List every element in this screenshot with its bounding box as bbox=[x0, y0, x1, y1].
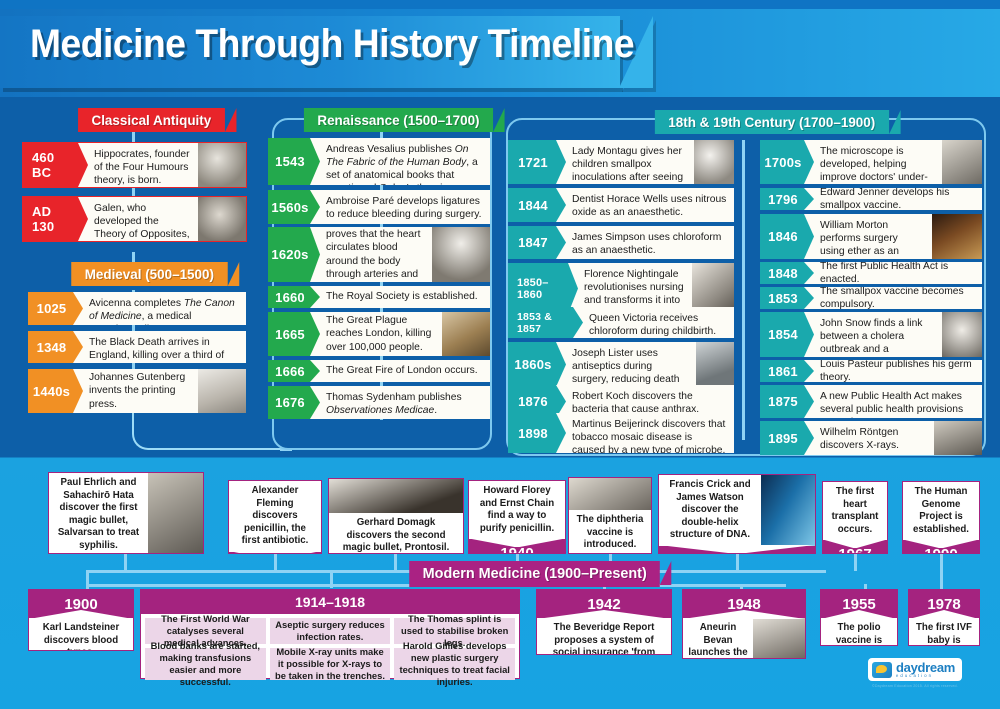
wwi-grid: The First World War catalyses several me… bbox=[141, 614, 519, 684]
card-year: 1940 bbox=[469, 539, 565, 554]
event-row: 1666 The Great Fire of London occurs. bbox=[268, 360, 490, 382]
card-image-syringe-and-vial bbox=[569, 478, 651, 510]
card-body: The Human Genome Project is established. bbox=[903, 482, 979, 540]
wwi-cell: Blood banks are started, making transfus… bbox=[145, 648, 266, 680]
century20-card: The first heart transplant occurs. 1967 bbox=[822, 481, 888, 554]
event-year: 1676 bbox=[268, 386, 310, 419]
card-image-prontosil-vial bbox=[329, 479, 463, 513]
modern-card: 1900 Karl Landsteiner discovers blood ty… bbox=[28, 589, 134, 651]
century20-card: Alexander Fleming discovers penicillin, … bbox=[228, 480, 322, 554]
poster-canvas: Medicine Through History Timeline Classi… bbox=[0, 0, 1000, 709]
event-row: 1796 Edward Jenner develops his smallpox… bbox=[760, 188, 982, 210]
event-row: 1560s Ambroise Paré develops ligatures t… bbox=[268, 190, 490, 224]
event-year: 1861 bbox=[760, 360, 804, 382]
card-year: 1900 bbox=[29, 590, 133, 618]
event-text: The microscope is developed, helping imp… bbox=[804, 140, 942, 184]
card-body: Howard Florey and Ernst Chain find a way… bbox=[469, 481, 565, 539]
event-year: 1666 bbox=[268, 360, 310, 382]
event-row: 1895 Wilhelm Röntgen discovers X-rays. bbox=[760, 421, 982, 455]
card-text: Gerhard Domagk discovers the second magi… bbox=[329, 513, 463, 554]
event-row: 1846 William Morton performs surgery usi… bbox=[760, 214, 982, 259]
modern-card: 1978 The first IVF baby is born. bbox=[908, 589, 980, 646]
card-body: Aneurin Bevan launches the National Heal… bbox=[683, 618, 805, 659]
event-row: 1854 John Snow finds a link between a ch… bbox=[760, 312, 982, 357]
connector-band-drop-1928 bbox=[274, 554, 277, 571]
event-text: Queen Victoria receives chloroform durin… bbox=[573, 307, 734, 338]
wwi-column: The First World War catalyses several me… bbox=[145, 618, 266, 680]
century20-card: Paul Ehrlich and Sahachirō Hata discover… bbox=[48, 472, 204, 554]
event-row: 1620s William Harvey proves that the hea… bbox=[268, 227, 490, 282]
brand-logo[interactable]: daydream education bbox=[868, 658, 962, 681]
century20-card: Francis Crick and James Watson discover … bbox=[658, 474, 816, 554]
banner-classical-antiquity: Classical Antiquity bbox=[78, 108, 225, 132]
card-text: Alexander Fleming discovers penicillin, … bbox=[229, 481, 321, 552]
event-text: William Morton performs surgery using et… bbox=[804, 214, 932, 259]
card-body: The diphtheria vaccine is introduced. bbox=[569, 478, 651, 554]
event-row: 1348 The Black Death arrives in England,… bbox=[28, 331, 246, 363]
event-text: Andreas Vesalius publishes On The Fabric… bbox=[310, 138, 490, 185]
card-text: The diphtheria vaccine is introduced. bbox=[569, 510, 651, 554]
event-image-carbolic-spray-apparatus bbox=[696, 342, 734, 387]
card-body: Gerhard Domagk discovers the second magi… bbox=[329, 479, 463, 554]
wwi-year: 1914–1918 bbox=[141, 590, 519, 614]
event-year: 1846 bbox=[760, 214, 804, 259]
card-text: The first heart transplant occurs. bbox=[823, 482, 887, 540]
connector-band-drop-1967 bbox=[854, 554, 857, 571]
modern-card: 1955 The polio vaccine is introduced. bbox=[820, 589, 898, 646]
card-year: 1948 bbox=[683, 590, 805, 618]
event-text: The Black Death arrives in England, kill… bbox=[73, 331, 246, 363]
card-image-dna-double-helix bbox=[761, 475, 815, 546]
event-year: 1025 bbox=[28, 292, 73, 325]
event-row: 1848 The first Public Health Act is enac… bbox=[760, 262, 982, 284]
connector-band-drop-1932 bbox=[394, 554, 397, 571]
event-row: 1025 Avicenna completes The Canon of Med… bbox=[28, 292, 246, 325]
wwi-cell: Mobile X-ray units make it possible for … bbox=[270, 648, 391, 680]
card-image-nhs-launch-photo bbox=[753, 618, 805, 659]
modern-card: 1942 The Beveridge Report proposes a sys… bbox=[536, 589, 672, 655]
event-year: 1700s bbox=[760, 140, 804, 184]
card-text: Howard Florey and Ernst Chain find a way… bbox=[469, 481, 565, 539]
event-text: Louis Pasteur publishes his germ theory. bbox=[804, 360, 982, 382]
event-year: 1665 bbox=[268, 312, 310, 356]
event-year: 1721 bbox=[508, 140, 556, 184]
century20-card: The diphtheria vaccine is introduced. 19… bbox=[568, 477, 652, 554]
event-row: 1875 A new Public Health Act makes sever… bbox=[760, 385, 982, 418]
event-text: Lady Montagu gives her children smallpox… bbox=[556, 140, 694, 184]
card-text: The Human Genome Project is established. bbox=[903, 482, 979, 540]
event-year: 1854 bbox=[760, 312, 804, 357]
event-year: 1898 bbox=[508, 413, 556, 453]
event-row: 460 BC Hippocrates, founder of the Four … bbox=[22, 142, 247, 188]
event-year: 1796 bbox=[760, 188, 804, 210]
connector-lower-drop-wwi bbox=[330, 570, 333, 588]
notch-shape bbox=[683, 610, 805, 619]
card-body: The polio vaccine is introduced. bbox=[821, 618, 897, 646]
event-row: 1721 Lady Montagu gives her children sma… bbox=[508, 140, 734, 184]
event-row: 1660 The Royal Society is established. bbox=[268, 286, 490, 308]
event-row: 1665 The Great Plague reaches London, ki… bbox=[268, 312, 490, 356]
event-year: 1620s bbox=[268, 227, 310, 282]
card-text: Aneurin Bevan launches the National Heal… bbox=[683, 618, 753, 659]
event-image-harvey-arm-veins-diagram bbox=[432, 227, 490, 282]
event-text: Ambroise Paré develops ligatures to redu… bbox=[310, 190, 490, 224]
event-year: 1853 bbox=[760, 287, 804, 309]
card-body: The first heart transplant occurs. bbox=[823, 482, 887, 540]
event-row: 1853 & 1857 Queen Victoria receives chlo… bbox=[508, 307, 734, 338]
event-text: Dentist Horace Wells uses nitrous oxide … bbox=[556, 188, 734, 222]
banner-modern-medicine: Modern Medicine (1900–Present) bbox=[409, 561, 660, 587]
event-text: The smallpox vaccine becomes compulsory. bbox=[804, 287, 982, 309]
event-text: The Great Plague reaches London, killing… bbox=[310, 312, 442, 356]
event-text: William Harvey proves that the heart cir… bbox=[310, 227, 432, 282]
card-year: 1978 bbox=[909, 590, 979, 618]
event-text: Galen, who developed the Theory of Oppos… bbox=[78, 197, 198, 241]
notch-shape bbox=[537, 610, 671, 619]
event-text: The Royal Society is established. bbox=[310, 286, 490, 308]
event-row: 1844 Dentist Horace Wells uses nitrous o… bbox=[508, 188, 734, 222]
event-year: 1895 bbox=[760, 421, 804, 455]
card-body: Alexander Fleming discovers penicillin, … bbox=[229, 481, 321, 552]
event-year: 1847 bbox=[508, 226, 556, 259]
card-text: Karl Landsteiner discovers blood types. bbox=[29, 618, 133, 651]
card-text: The first IVF baby is born. bbox=[909, 618, 979, 646]
event-year: 1848 bbox=[760, 262, 804, 284]
event-year: 1440s bbox=[28, 369, 73, 413]
card-text: The Beveridge Report proposes a system o… bbox=[537, 618, 671, 655]
banner-18th-19th-century: 18th & 19th Century (1700–1900) bbox=[655, 110, 889, 134]
event-row: 1700s The microscope is developed, helpi… bbox=[760, 140, 982, 184]
card-image-ehrlich-hata-photo bbox=[148, 473, 203, 554]
event-image-lady-montagu-portrait bbox=[694, 140, 734, 184]
card-body: Paul Ehrlich and Sahachirō Hata discover… bbox=[49, 473, 203, 554]
card-year: 1953 bbox=[659, 546, 815, 554]
page-title: Medicine Through History Timeline bbox=[30, 22, 634, 67]
daydream-mark-icon bbox=[872, 662, 892, 678]
banner-medieval: Medieval (500–1500) bbox=[71, 262, 227, 286]
event-row: 1861 Louis Pasteur publishes his germ th… bbox=[760, 360, 982, 382]
connector-band-drop-1953 bbox=[736, 554, 739, 571]
event-image-ether-surgery-painting bbox=[932, 214, 982, 259]
event-image-rontgen-xray-photo bbox=[934, 421, 982, 455]
card-year: 1942 bbox=[537, 590, 671, 618]
wwi-column: Aseptic surgery reduces infection rates.… bbox=[270, 618, 391, 680]
connector-band-drop-1909 bbox=[124, 554, 127, 571]
event-year: 460 BC bbox=[23, 143, 78, 187]
event-year: 1860s bbox=[508, 342, 556, 387]
event-year: 1844 bbox=[508, 188, 556, 222]
event-image-antique-microscope bbox=[942, 140, 982, 184]
card-body: Francis Crick and James Watson discover … bbox=[659, 475, 815, 546]
event-text: The Great Fire of London occurs. bbox=[310, 360, 490, 382]
notch-shape bbox=[821, 610, 897, 619]
event-year: 1560s bbox=[268, 190, 310, 224]
connector-left-group-outline bbox=[132, 410, 282, 450]
century20-card: Howard Florey and Ernst Chain find a way… bbox=[468, 480, 566, 554]
event-text: James Simpson uses chloroform as an anae… bbox=[556, 226, 734, 259]
event-text: Avicenna completes The Canon of Medicine… bbox=[73, 292, 246, 325]
card-text: The polio vaccine is introduced. bbox=[821, 618, 897, 646]
copyright-text: ©Daydream Education 2015. All rights res… bbox=[872, 684, 958, 688]
event-row: 1440s Johannes Gutenberg invents the pri… bbox=[28, 369, 246, 413]
event-image-john-snow-portrait bbox=[942, 312, 982, 357]
card-body: Karl Landsteiner discovers blood types. bbox=[29, 618, 133, 651]
event-text: Edward Jenner develops his smallpox vacc… bbox=[804, 188, 982, 210]
event-row: 1847 James Simpson uses chloroform as an… bbox=[508, 226, 734, 259]
event-row: 1898 Martinus Beijerinck discovers that … bbox=[508, 413, 734, 453]
event-text: Joseph Lister uses antiseptics during su… bbox=[556, 342, 696, 387]
event-row: AD 130 Galen, who developed the Theory o… bbox=[22, 196, 247, 242]
event-year: 1853 & 1857 bbox=[508, 307, 573, 338]
notch-shape bbox=[29, 610, 133, 619]
wwi-column: The Thomas splint is used to stabilise b… bbox=[394, 618, 515, 680]
card-year: 1967 bbox=[823, 540, 887, 554]
event-text: Thomas Sydenham publishes Observationes … bbox=[310, 386, 490, 419]
event-text: John Snow finds a link between a cholera… bbox=[804, 312, 942, 357]
event-text: Wilhelm Röntgen discovers X-rays. bbox=[804, 421, 934, 455]
event-row: 1853 The smallpox vaccine becomes compul… bbox=[760, 287, 982, 309]
event-image-galen-portrait bbox=[198, 197, 246, 241]
century20-card: The Human Genome Project is established.… bbox=[902, 481, 980, 554]
wwi-cell: Harold Gillies develops new plastic surg… bbox=[394, 648, 515, 680]
notch-shape bbox=[909, 610, 979, 619]
event-text: Hippocrates, founder of the Four Humours… bbox=[78, 143, 198, 187]
event-row: 1543 Andreas Vesalius publishes On The F… bbox=[268, 138, 490, 185]
card-year: 1955 bbox=[821, 590, 897, 618]
event-year: AD 130 bbox=[23, 197, 78, 241]
event-row: 1860s Joseph Lister uses antiseptics dur… bbox=[508, 342, 734, 387]
event-text: A new Public Health Act makes several pu… bbox=[804, 385, 982, 418]
card-text: Francis Crick and James Watson discover … bbox=[659, 475, 761, 546]
banner-renaissance: Renaissance (1500–1700) bbox=[304, 108, 493, 132]
event-image-hippocrates-bust-portrait bbox=[198, 143, 246, 187]
event-text: Martinus Beijerinck discovers that tobac… bbox=[556, 413, 734, 453]
event-year: 1660 bbox=[268, 286, 310, 308]
card-year: 1990 bbox=[903, 540, 979, 554]
event-image-printing-press-engraving bbox=[198, 369, 246, 413]
event-row: 1676 Thomas Sydenham publishes Observati… bbox=[268, 386, 490, 419]
event-year: 1348 bbox=[28, 331, 73, 363]
event-text: Johannes Gutenberg invents the printing … bbox=[73, 369, 198, 413]
card-body: The first IVF baby is born. bbox=[909, 618, 979, 646]
modern-card: 1948 Aneurin Bevan launches the National… bbox=[682, 589, 806, 659]
event-image-great-plague-painting bbox=[442, 312, 490, 356]
card-body: The Beveridge Report proposes a system o… bbox=[537, 618, 671, 655]
card-text: Paul Ehrlich and Sahachirō Hata discover… bbox=[49, 473, 148, 554]
wwi-cell: Aseptic surgery reduces infection rates. bbox=[270, 618, 391, 644]
century20-card: Gerhard Domagk discovers the second magi… bbox=[328, 478, 464, 554]
event-year: 1543 bbox=[268, 138, 310, 185]
wwi-block: 1914–1918 The First World War catalyses … bbox=[140, 589, 520, 679]
event-text: The first Public Health Act is enacted. bbox=[804, 262, 982, 284]
logo-text: daydream education bbox=[896, 661, 955, 678]
event-year: 1875 bbox=[760, 385, 804, 418]
